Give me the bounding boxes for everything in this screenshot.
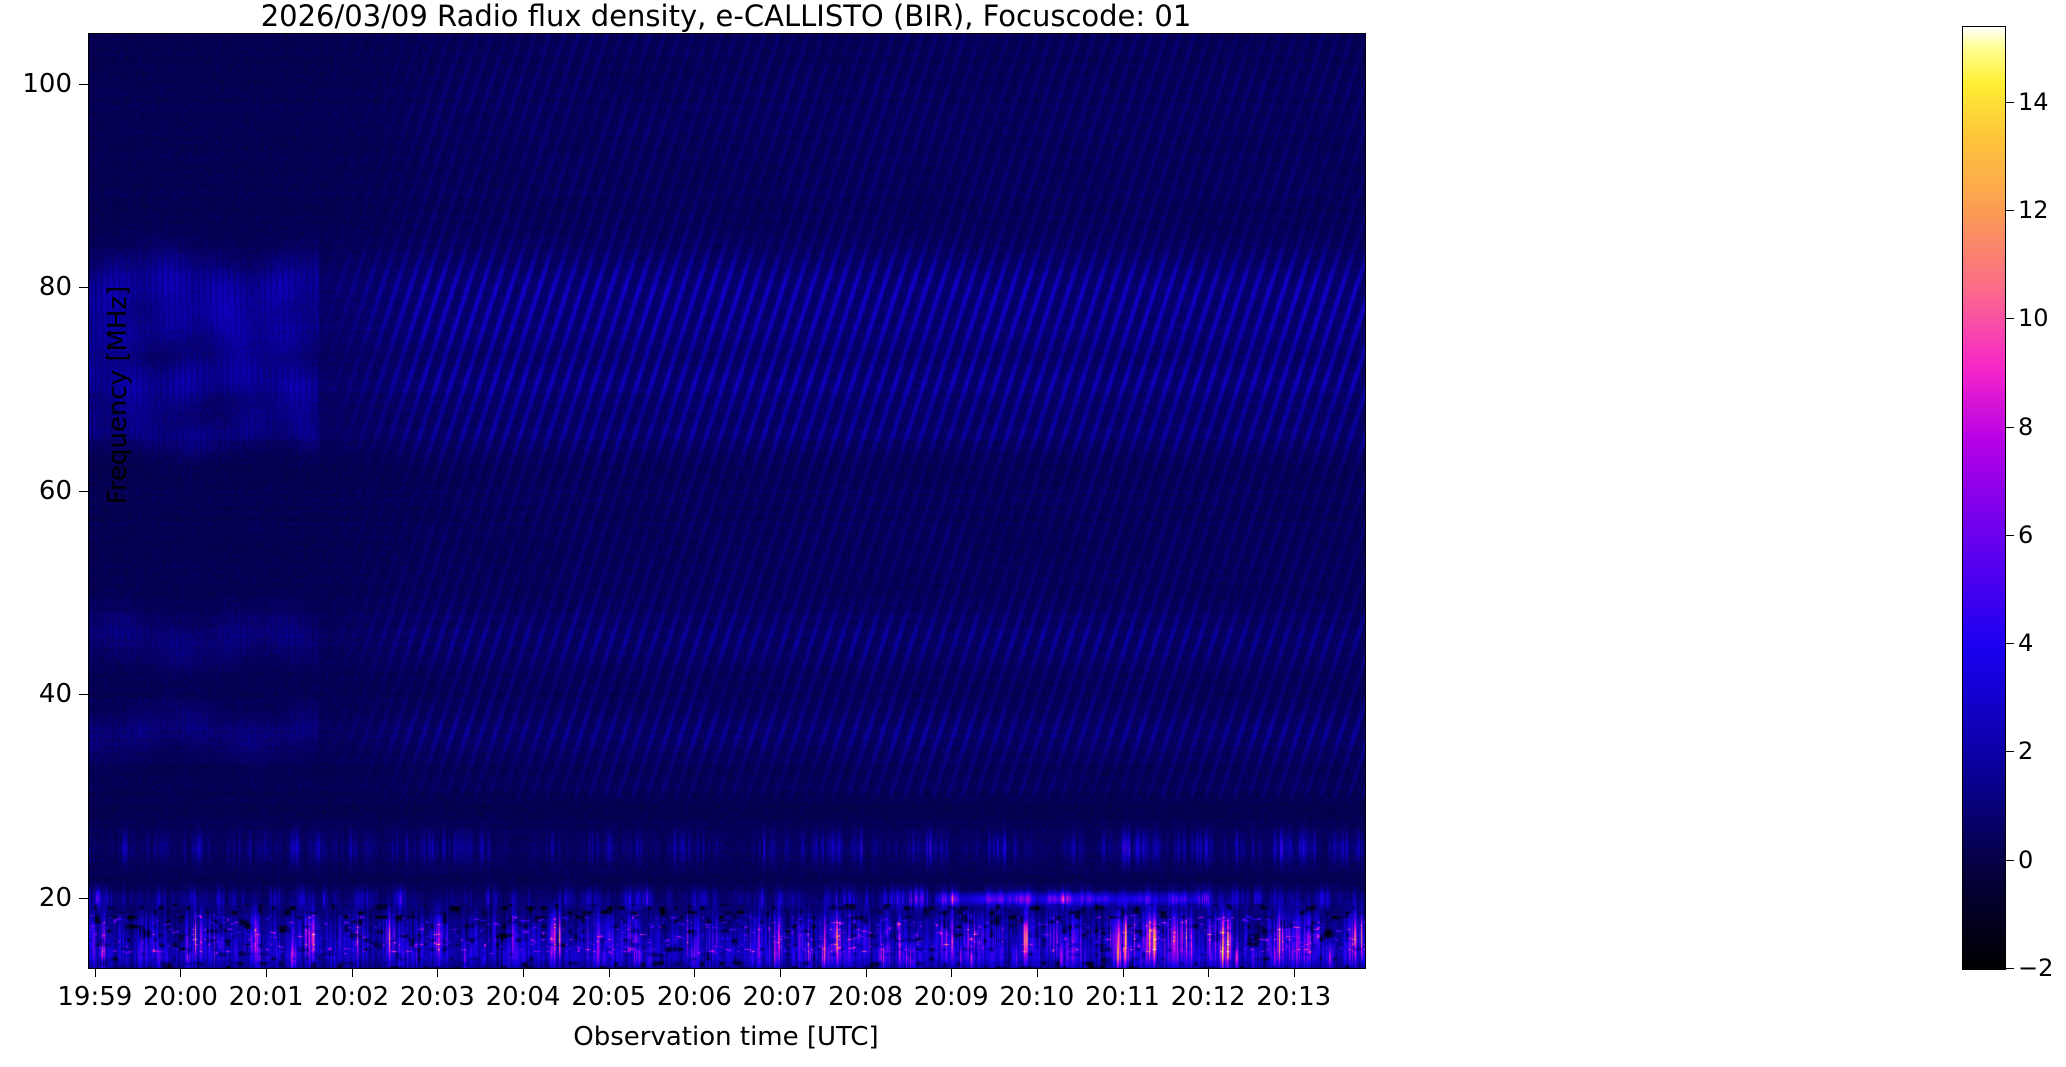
colorbar-tick-label: 6 <box>2018 521 2033 549</box>
colorbar-tick-label: 12 <box>2018 196 2049 224</box>
colorbar-tick-label: 14 <box>2018 88 2049 116</box>
colorbar-tick-mark <box>2005 860 2014 861</box>
x-tick-mark <box>1294 968 1295 977</box>
colorbar-tick-mark <box>2005 210 2014 211</box>
colorbar-tick-label: 0 <box>2018 846 2033 874</box>
colorbar-tick-mark <box>2005 968 2014 969</box>
x-tick-mark <box>1123 968 1124 977</box>
y-tick-mark <box>79 84 88 85</box>
x-tick-label: 19:59 <box>57 982 132 1012</box>
x-tick-mark <box>951 968 952 977</box>
x-tick-mark <box>95 968 96 977</box>
y-axis-label: Frequency [MHz] <box>103 265 133 525</box>
x-tick-mark <box>437 968 438 977</box>
x-tick-label: 20:08 <box>828 982 903 1012</box>
colorbar[interactable] <box>1962 26 2006 970</box>
x-tick-label: 20:11 <box>1085 982 1160 1012</box>
x-tick-label: 20:02 <box>314 982 389 1012</box>
x-tick-mark <box>609 968 610 977</box>
y-tick-label: 40 <box>0 679 72 709</box>
colorbar-tick-label: −2 <box>2018 954 2053 982</box>
x-tick-mark <box>866 968 867 977</box>
colorbar-tick-mark <box>2005 318 2014 319</box>
spectrogram-image[interactable] <box>89 34 1365 968</box>
x-tick-label: 20:10 <box>999 982 1074 1012</box>
y-tick-mark <box>79 898 88 899</box>
y-tick-label: 100 <box>0 69 72 99</box>
x-tick-mark <box>523 968 524 977</box>
x-tick-label: 20:04 <box>486 982 561 1012</box>
colorbar-tick-mark <box>2005 427 2014 428</box>
colorbar-tick-label: 2 <box>2018 737 2033 765</box>
x-tick-label: 20:05 <box>571 982 646 1012</box>
y-tick-label: 20 <box>0 883 72 913</box>
x-tick-label: 20:09 <box>914 982 989 1012</box>
x-tick-mark <box>694 968 695 977</box>
x-tick-mark <box>780 968 781 977</box>
x-tick-label: 20:00 <box>143 982 218 1012</box>
x-tick-mark <box>1037 968 1038 977</box>
figure-canvas: 2026/03/09 Radio flux density, e-CALLIST… <box>0 0 2066 1067</box>
x-tick-mark <box>266 968 267 977</box>
y-tick-label: 60 <box>0 476 72 506</box>
y-tick-mark <box>79 694 88 695</box>
x-tick-label: 20:12 <box>1171 982 1246 1012</box>
x-tick-label: 20:06 <box>657 982 732 1012</box>
x-axis-label: Observation time [UTC] <box>88 1022 1364 1052</box>
colorbar-tick-label: 8 <box>2018 413 2033 441</box>
colorbar-gradient <box>1963 27 2005 969</box>
x-tick-label: 20:07 <box>742 982 817 1012</box>
x-tick-mark <box>1208 968 1209 977</box>
y-tick-label: 80 <box>0 272 72 302</box>
spectrogram-plot-area[interactable] <box>88 33 1366 969</box>
page-title: 2026/03/09 Radio flux density, e-CALLIST… <box>88 0 1364 33</box>
colorbar-tick-label: 10 <box>2018 304 2049 332</box>
x-tick-mark <box>352 968 353 977</box>
x-tick-label: 20:13 <box>1256 982 1331 1012</box>
y-tick-mark <box>79 491 88 492</box>
x-tick-label: 20:03 <box>400 982 475 1012</box>
y-tick-mark <box>79 287 88 288</box>
colorbar-tick-mark <box>2005 751 2014 752</box>
colorbar-tick-mark <box>2005 102 2014 103</box>
colorbar-tick-mark <box>2005 535 2014 536</box>
x-tick-mark <box>180 968 181 977</box>
colorbar-tick-mark <box>2005 643 2014 644</box>
x-tick-label: 20:01 <box>229 982 304 1012</box>
colorbar-tick-label: 4 <box>2018 629 2033 657</box>
